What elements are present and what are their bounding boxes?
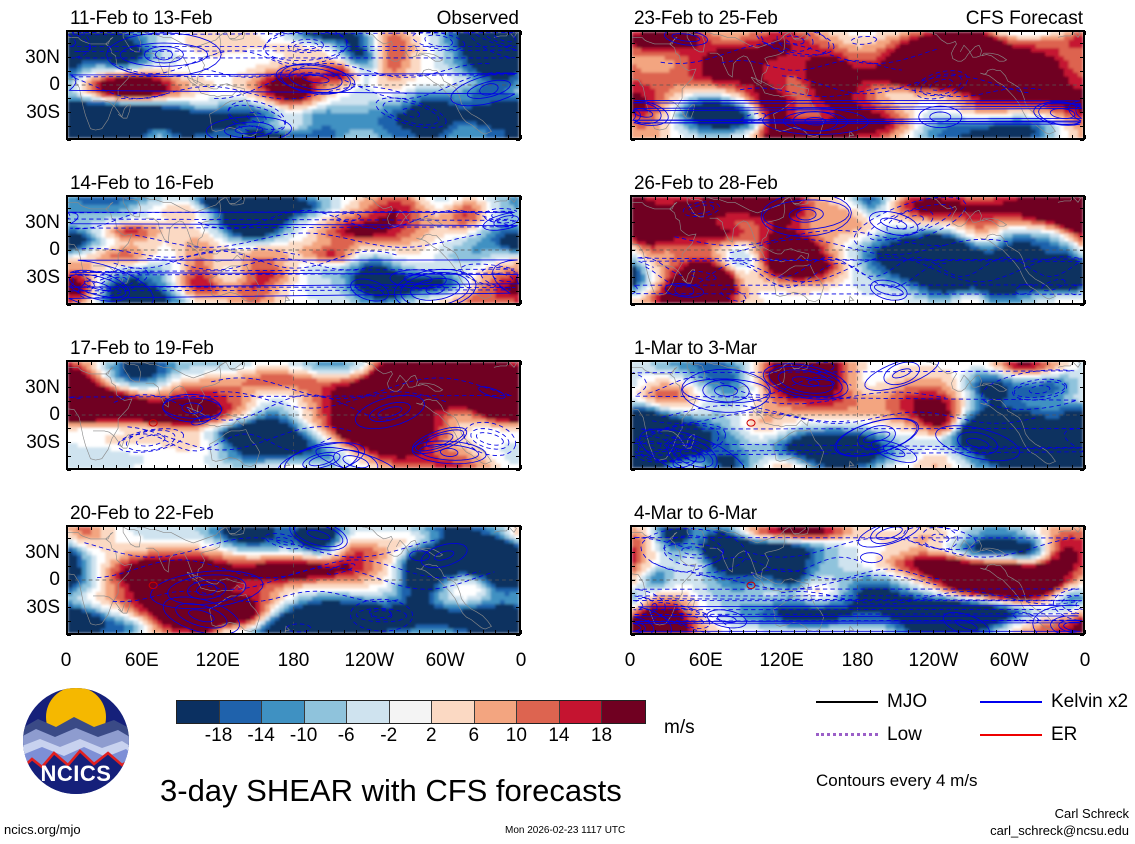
axis-tick [318,31,319,35]
axis-tick [655,361,656,365]
axis-tick [381,196,382,200]
axis-tick [631,360,635,361]
axis-tick [1080,85,1084,86]
axis-tick [66,31,67,35]
axis-tick [67,387,71,388]
legend-label-kelvin: Kelvin x2 [1051,692,1128,711]
axis-tick [306,465,307,469]
axis-tick [667,300,668,304]
axis-tick [718,31,719,35]
axis-tick [293,630,294,634]
axis-tick [167,196,168,200]
axis-tick [806,361,807,365]
axis-tick [655,465,656,469]
axis-tick [895,465,896,469]
axis-tick [445,31,446,35]
colorbar-tick-labels: -18-14-10-6-226101418 [176,726,644,748]
ncics-logo-text: NCICS [41,761,112,786]
axis-tick [179,135,180,139]
panel-title: 1-Mar to 3-Mar [634,339,757,358]
axis-tick [356,196,357,200]
y-axis-tick-label: 30N [2,213,60,232]
axis-tick [369,526,370,530]
axis-tick [1034,361,1035,365]
axis-tick [67,140,71,141]
axis-tick [331,196,332,200]
legend-item-er: ER [980,725,1077,744]
axis-tick [394,630,395,634]
axis-tick [407,135,408,139]
axis-tick [1034,300,1035,304]
axis-tick [280,526,281,530]
axis-tick [217,526,218,530]
axis-tick [508,300,509,304]
axis-tick [495,630,496,634]
axis-tick [1009,31,1010,35]
axis-tick [870,31,871,35]
axis-tick [945,465,946,469]
axis-tick [516,140,520,141]
axis-tick [794,361,795,365]
axis-tick [1080,208,1084,209]
axis-tick [705,31,706,35]
axis-tick [67,593,71,594]
legend-label-er: ER [1051,725,1077,744]
axis-tick [1021,135,1022,139]
axis-tick [242,465,243,469]
contour-interval-note: Contours every 4 m/s [816,772,978,789]
axis-tick [432,300,433,304]
axis-tick [1080,525,1084,526]
axis-tick [971,300,972,304]
axis-tick [693,196,694,200]
axis-tick [718,526,719,530]
ncics-logo[interactable]: NCICS [22,687,130,795]
axis-tick [445,361,446,365]
axis-tick [67,360,71,361]
panel-title: 23-Feb to 25-Feb [634,9,778,28]
axis-tick [381,135,382,139]
axis-tick [1021,31,1022,35]
axis-tick [769,31,770,35]
axis-tick [996,196,997,200]
axis-tick [895,300,896,304]
axis-tick [882,465,883,469]
axis-tick [832,31,833,35]
axis-tick [920,630,921,634]
legend-item-mjo: MJO [816,692,927,711]
axis-tick [457,300,458,304]
axis-tick [832,465,833,469]
axis-tick [483,135,484,139]
axis-tick [356,630,357,634]
axis-tick [103,300,104,304]
axis-tick [1080,470,1084,471]
axis-tick [756,526,757,530]
footer-site-link[interactable]: ncics.org/mjo [4,823,81,836]
x-axis-tick-label: 0 [61,651,72,670]
axis-tick [983,526,984,530]
axis-tick [908,135,909,139]
axis-tick [819,31,820,35]
panel-title: 20-Feb to 22-Feb [70,504,214,523]
axis-tick [1059,630,1060,634]
axis-tick [1080,57,1084,58]
axis-tick [394,465,395,469]
axis-tick [516,277,520,278]
axis-tick [631,208,635,209]
axis-tick [508,196,509,200]
axis-tick [495,31,496,35]
axis-tick [1021,630,1022,634]
axis-tick [516,387,520,388]
axis-tick [516,566,520,567]
axis-tick [483,31,484,35]
axis-tick [230,196,231,200]
axis-tick [516,525,520,526]
axis-tick [516,442,520,443]
axis-tick [631,415,635,416]
axis-tick [369,465,370,469]
x-axis-tick-label: 60W [426,651,465,670]
axis-tick [394,300,395,304]
axis-tick [369,135,370,139]
axis-tick [192,361,193,365]
axis-tick [91,196,92,200]
axis-tick [693,630,694,634]
axis-tick [516,291,520,292]
axis-tick [129,31,130,35]
axis-tick [693,300,694,304]
axis-tick [781,465,782,469]
axis-tick [631,552,635,553]
axis-tick [870,630,871,634]
axis-tick [495,361,496,365]
axis-tick [129,526,130,530]
axis-tick [516,126,520,127]
axis-tick [920,135,921,139]
axis-tick [516,538,520,539]
axis-tick [945,300,946,304]
axis-tick [642,31,643,35]
axis-tick [445,196,446,200]
axis-tick [242,196,243,200]
axis-tick [680,135,681,139]
axis-tick [945,361,946,365]
axis-tick [1009,361,1010,365]
axis-tick [631,277,635,278]
axis-tick [306,300,307,304]
axis-tick [521,196,522,200]
axis-tick [255,31,256,35]
axis-tick [1059,465,1060,469]
legend-label-mjo: MJO [887,692,927,711]
map-field [632,32,1083,138]
axis-tick [1080,360,1084,361]
axis-tick [192,135,193,139]
axis-tick [369,361,370,365]
axis-tick [67,635,71,636]
axis-tick [933,361,934,365]
axis-tick [293,300,294,304]
axis-tick [908,300,909,304]
axis-tick [483,361,484,365]
axis-tick [1080,415,1084,416]
axis-tick [857,465,858,469]
axis-tick [103,31,104,35]
axis-tick [67,470,71,471]
axis-tick [356,31,357,35]
axis-tick [67,538,71,539]
axis-tick [1080,635,1084,636]
axis-tick [667,361,668,365]
axis-tick [631,30,635,31]
axis-tick [167,526,168,530]
axis-tick [631,71,635,72]
axis-tick [743,361,744,365]
map-field [632,362,1083,468]
axis-tick [806,31,807,35]
legend-swatch-low [816,733,878,736]
axis-tick [516,98,520,99]
axis-tick [356,361,357,365]
axis-tick [205,465,206,469]
axis-tick [1080,538,1084,539]
axis-tick [958,630,959,634]
map-plot-area [630,360,1085,470]
axis-tick [920,361,921,365]
legend-swatch-mjo [816,701,878,703]
axis-tick [457,31,458,35]
axis-tick [1047,300,1048,304]
axis-tick [318,300,319,304]
axis-tick [179,300,180,304]
axis-tick [419,361,420,365]
map-plot-area [66,525,521,635]
legend-swatch-kelvin [980,701,1042,703]
axis-tick [91,361,92,365]
axis-tick [179,526,180,530]
axis-tick [631,456,635,457]
axis-tick [318,361,319,365]
axis-tick [971,630,972,634]
axis-tick [631,305,635,306]
axis-tick [293,31,294,35]
axis-tick [844,196,845,200]
axis-tick [230,465,231,469]
axis-tick [631,387,635,388]
axis-tick [116,526,117,530]
panel-title: 14-Feb to 16-Feb [70,174,214,193]
axis-tick [141,135,142,139]
map-plot-area [66,30,521,140]
colorbar-cell [347,701,390,723]
axis-tick [394,31,395,35]
axis-tick [67,552,71,553]
axis-tick [844,630,845,634]
axis-tick [743,526,744,530]
axis-tick [693,465,694,469]
axis-tick [394,526,395,530]
map-field [632,527,1083,633]
axis-tick [67,236,71,237]
axis-tick [895,630,896,634]
axis-tick [832,526,833,530]
axis-tick [470,630,471,634]
axis-tick [1009,526,1010,530]
colorbar-cell [560,701,603,723]
axis-tick [66,196,67,200]
x-axis-tick-label: 180 [842,651,874,670]
map-panel: 14-Feb to 16-Feb30N030S [66,195,521,305]
axis-tick [680,361,681,365]
axis-tick [769,526,770,530]
axis-tick [516,195,520,196]
axis-tick [192,31,193,35]
axis-tick [996,300,997,304]
axis-tick [983,630,984,634]
axis-tick [971,361,972,365]
axis-tick [819,361,820,365]
axis-tick [832,135,833,139]
axis-tick [103,630,104,634]
axis-tick [971,196,972,200]
axis-tick [280,300,281,304]
axis-tick [91,135,92,139]
axis-tick [705,630,706,634]
y-axis-tick-label: 30S [2,433,60,452]
axis-tick [844,31,845,35]
axis-tick [67,277,71,278]
axis-tick [781,135,782,139]
axis-tick [67,442,71,443]
axis-tick [381,300,382,304]
axis-tick [781,361,782,365]
axis-tick [78,31,79,35]
axis-tick [78,465,79,469]
axis-tick [167,465,168,469]
axis-tick [718,465,719,469]
axis-tick [819,196,820,200]
axis-tick [945,196,946,200]
axis-tick [407,31,408,35]
axis-tick [631,85,635,86]
axis-tick [1021,526,1022,530]
footer-timestamp: Mon 2026-02-23 1117 UTC [505,826,625,836]
colorbar-tick: -10 [290,726,317,745]
axis-tick [516,635,520,636]
axis-tick [457,361,458,365]
axis-tick [705,465,706,469]
axis-tick [895,135,896,139]
axis-tick [743,630,744,634]
axis-tick [230,630,231,634]
axis-tick [67,85,71,86]
axis-tick [470,196,471,200]
axis-tick [996,465,997,469]
axis-tick [154,630,155,634]
axis-tick [268,135,269,139]
colorbar-unit-label: m/s [664,718,695,737]
axis-tick [1080,291,1084,292]
axis-tick [1047,630,1048,634]
axis-tick [1021,361,1022,365]
axis-tick [116,465,117,469]
axis-tick [781,526,782,530]
axis-tick [280,196,281,200]
colorbar-cell [602,701,645,723]
axis-tick [280,31,281,35]
axis-tick [205,630,206,634]
axis-tick [731,135,732,139]
axis-tick [217,300,218,304]
x-axis-tick-label: 60E [125,651,159,670]
colorbar-tick: -6 [338,726,355,745]
axis-tick [630,135,631,139]
footer-email[interactable]: carl_schreck@ncsu.edu [990,823,1129,838]
axis-tick [667,196,668,200]
axis-tick [996,630,997,634]
axis-tick [718,630,719,634]
axis-tick [516,236,520,237]
axis-tick [1072,135,1073,139]
legend-swatch-er [980,734,1042,736]
axis-tick [394,196,395,200]
axis-tick [91,526,92,530]
axis-tick [516,30,520,31]
axis-tick [78,135,79,139]
axis-tick [508,361,509,365]
axis-tick [631,607,635,608]
axis-tick [516,470,520,471]
axis-tick [680,196,681,200]
axis-tick [743,135,744,139]
axis-tick [432,31,433,35]
axis-tick [268,526,269,530]
axis-tick [331,31,332,35]
axis-tick [1085,465,1086,469]
axis-tick [718,135,719,139]
axis-tick [1085,196,1086,200]
axis-tick [280,361,281,365]
axis-tick [1059,135,1060,139]
axis-tick [66,465,67,469]
axis-tick [103,361,104,365]
axis-tick [521,465,522,469]
axis-tick [1009,196,1010,200]
axis-tick [141,300,142,304]
axis-tick [192,300,193,304]
axis-tick [743,31,744,35]
axis-tick [631,126,635,127]
axis-tick [344,526,345,530]
axis-tick [794,465,795,469]
axis-tick [1034,31,1035,35]
axis-tick [1080,71,1084,72]
axis-tick [67,525,71,526]
axis-tick [1047,135,1048,139]
colorbar-tick: 6 [469,726,480,745]
axis-tick [631,401,635,402]
axis-tick [819,300,820,304]
axis-tick [67,373,71,374]
axis-tick [318,630,319,634]
axis-tick [179,196,180,200]
axis-tick [870,361,871,365]
axis-tick [67,195,71,196]
axis-tick [1085,526,1086,530]
axis-tick [996,526,997,530]
